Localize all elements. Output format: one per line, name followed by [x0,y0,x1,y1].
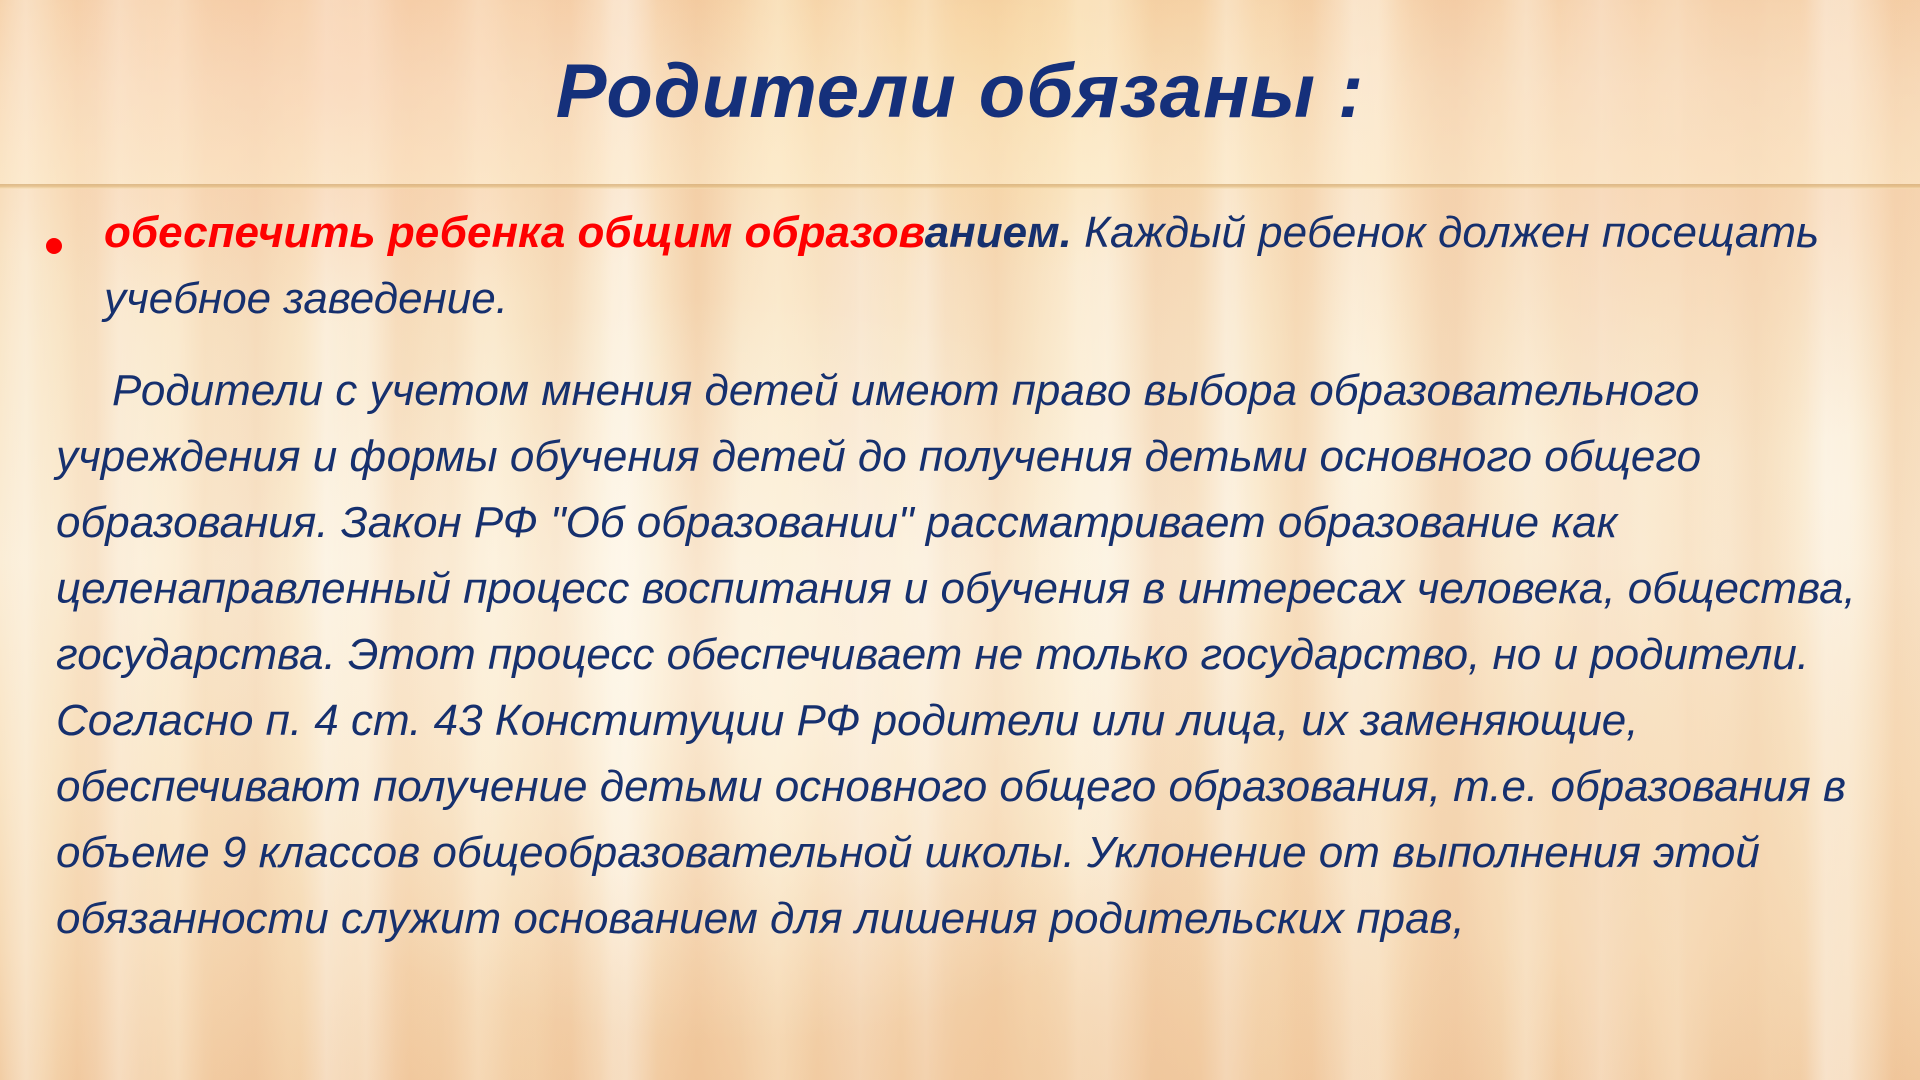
slide-body: обеспечить ребенка общим образованием. К… [0,200,1920,1080]
body-paragraph: Родители с учетом мнения детей имеют пра… [0,358,1920,952]
slide-title: Родители обязаны : [0,46,1920,138]
bullet-highlight-blue: анием. [925,208,1072,257]
bullet-point-icon [46,238,62,254]
presentation-slide: Родители обязаны : обеспечить ребенка об… [0,0,1920,1080]
header-divider-rule [0,184,1920,189]
bullet-highlight-red: обеспечить ребенка общим образов [104,208,925,257]
list-item: обеспечить ребенка общим образованием. К… [0,200,1920,332]
bullet-item-text: обеспечить ребенка общим образованием. К… [104,200,1860,332]
